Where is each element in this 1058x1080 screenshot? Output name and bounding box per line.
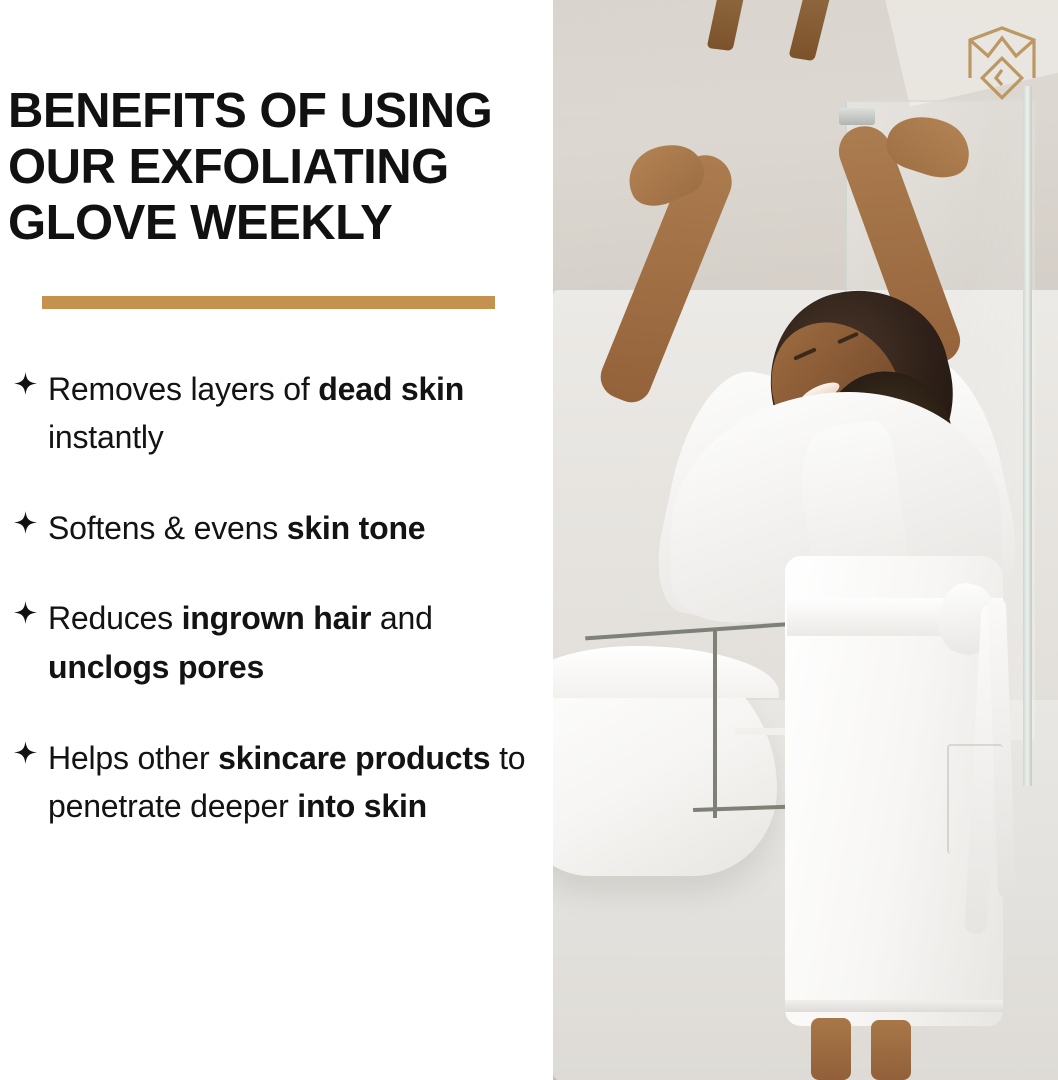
sparkle-icon xyxy=(14,372,48,395)
robe-hem xyxy=(785,1000,1003,1012)
benefit-item: Removes layers of dead skin instantly xyxy=(14,365,535,462)
gold-rule-divider xyxy=(42,296,495,309)
benefit-item: Helps other skincare products to penetra… xyxy=(14,734,535,831)
copy-panel: BENEFITS OF USING OUR EXFOLIATING GLOVE … xyxy=(0,0,553,1080)
glass-panel-clip xyxy=(839,108,875,125)
benefit-text: Reduces ingrown hair and unclogs pores xyxy=(48,594,528,691)
lifestyle-photo xyxy=(553,0,1058,1080)
glass-panel-edge xyxy=(1023,86,1032,786)
sparkle-icon xyxy=(14,601,48,624)
model-leg xyxy=(871,1020,911,1080)
sparkle-icon xyxy=(14,511,48,534)
infographic-page: BENEFITS OF USING OUR EXFOLIATING GLOVE … xyxy=(0,0,1058,1080)
benefits-list: Removes layers of dead skin instantly So… xyxy=(8,365,535,831)
benefit-text: Helps other skincare products to penetra… xyxy=(48,734,528,831)
page-title: BENEFITS OF USING OUR EXFOLIATING GLOVE … xyxy=(8,84,535,252)
console-frame-leg xyxy=(713,628,717,818)
model-leg xyxy=(811,1018,851,1080)
benefit-item: Softens & evens skin tone xyxy=(14,504,535,553)
benefit-text: Softens & evens skin tone xyxy=(48,504,425,553)
robe-pocket xyxy=(947,744,1003,854)
benefit-item: Reduces ingrown hair and unclogs pores xyxy=(14,594,535,691)
benefit-text: Removes layers of dead skin instantly xyxy=(48,365,528,462)
brand-monogram-logo xyxy=(965,22,1039,102)
sparkle-icon xyxy=(14,741,48,764)
